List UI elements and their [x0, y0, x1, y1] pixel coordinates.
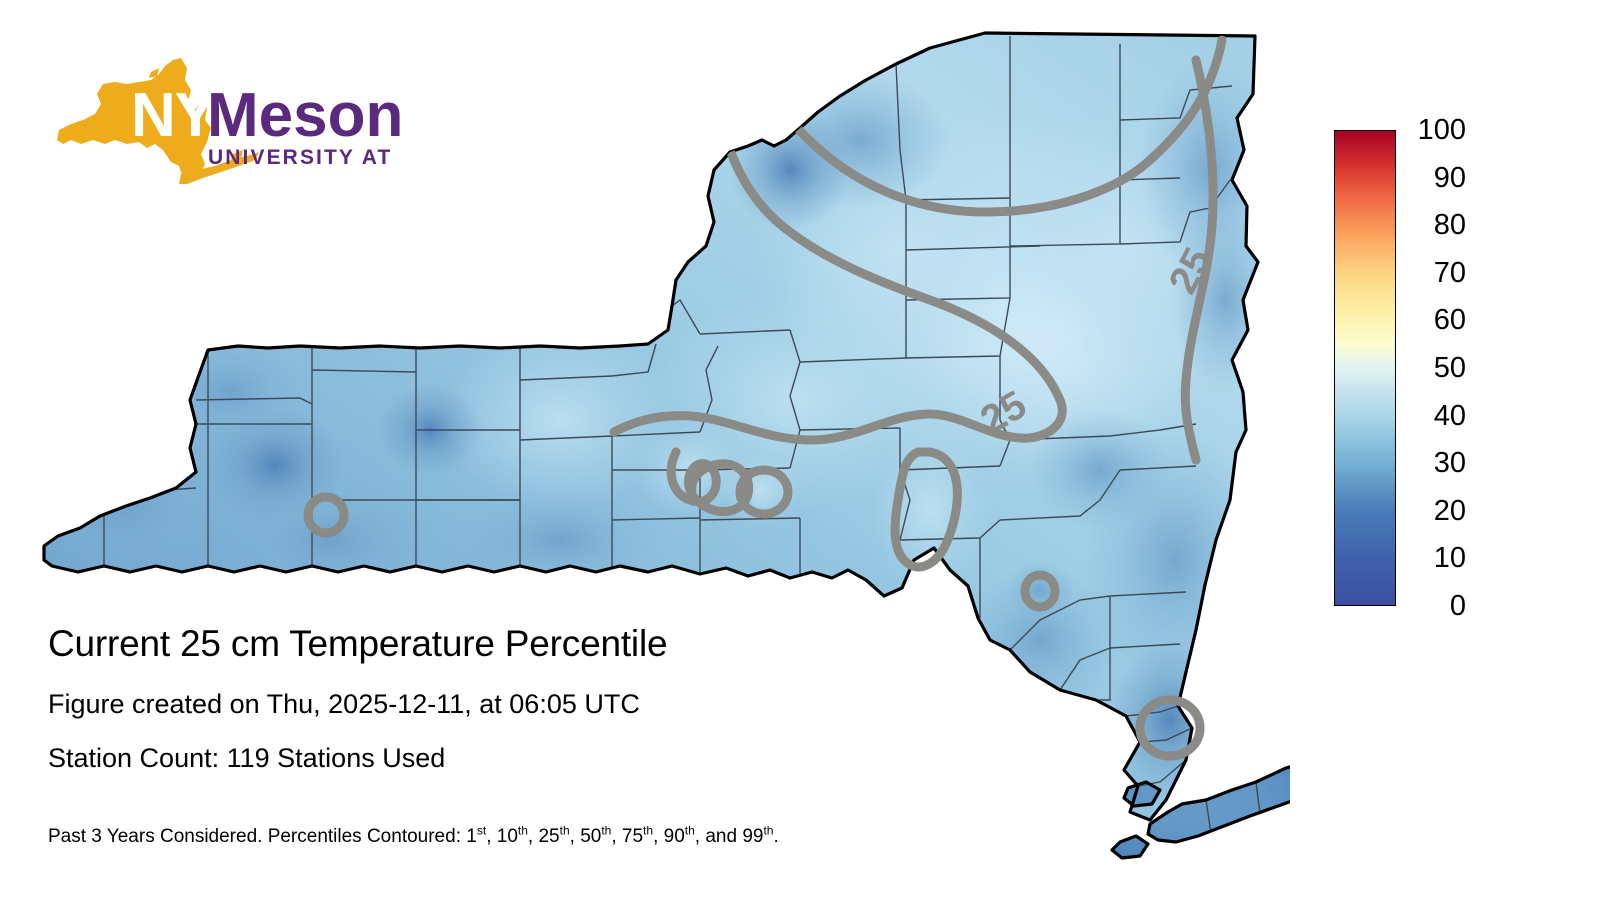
- footnote-percentile-50: 50th,: [580, 826, 622, 847]
- page-title: Current 25 cm Temperature Percentile: [48, 622, 1068, 666]
- footnote-percentile-1: 1st,: [466, 826, 496, 847]
- colorbar-tick-30: 30: [1404, 449, 1466, 478]
- footnote-ordinal-suffix: th: [518, 824, 528, 838]
- footnote-percentile-75: 75th,: [622, 826, 664, 847]
- station-count-label: Station Count: 119 Stations Used: [48, 742, 1068, 774]
- colorbar-tick-40: 40: [1404, 402, 1466, 431]
- logo-tagline-text: UNIVERSITY AT ALBANY: [208, 146, 400, 169]
- colorbar-tick-100: 100: [1404, 116, 1466, 145]
- footnote-percentile-10: 10th,: [497, 826, 539, 847]
- colorbar-tick-10: 10: [1404, 544, 1466, 573]
- logo-mesonet-text: Mesonet: [207, 81, 400, 150]
- colorbar-tick-70: 70: [1404, 259, 1466, 288]
- caption-block: Current 25 cm Temperature Percentile Fig…: [48, 622, 1068, 774]
- footnote-ordinal-suffix: th: [601, 824, 611, 838]
- figure-created-timestamp: Figure created on Thu, 2025-12-11, at 06…: [48, 688, 1068, 720]
- colorbar-tick-80: 80: [1404, 211, 1466, 240]
- footnote-lead: Past 3 Years Considered. Percentiles Con…: [48, 826, 466, 847]
- colorbar-tick-60: 60: [1404, 306, 1466, 335]
- colorbar-tick-labels: 1009080706050403020100: [1404, 118, 1484, 618]
- percentile-footnote: Past 3 Years Considered. Percentiles Con…: [48, 826, 779, 848]
- footnote-ordinal-suffix: st: [477, 824, 486, 838]
- footnote-ordinal-suffix: th: [685, 824, 695, 838]
- colorbar-tick-0: 0: [1404, 592, 1466, 621]
- footnote-ordinal-suffix: th: [763, 824, 773, 838]
- footnote-ordinal-suffix: th: [560, 824, 570, 838]
- footnote-percentile-90: 90th,: [664, 826, 706, 847]
- footnote-percentile-99: and 99th: [705, 826, 773, 847]
- colorbar-tick-20: 20: [1404, 497, 1466, 526]
- colorbar-tick-50: 50: [1404, 354, 1466, 383]
- colorbar-tick-90: 90: [1404, 164, 1466, 193]
- footnote-percentile-25: 25th,: [538, 826, 580, 847]
- nys-mesonet-logo[interactable]: NYS Mesonet UNIVERSITY AT ALBANY: [55, 58, 400, 188]
- figure-canvas: 25 25 NYS Mesonet UNIVERSITY AT ALBANY 1…: [0, 0, 1600, 900]
- footnote-ordinal-suffix: th: [643, 824, 653, 838]
- footnote-terminator: .: [773, 826, 778, 847]
- percentile-colorbar[interactable]: [1334, 130, 1396, 606]
